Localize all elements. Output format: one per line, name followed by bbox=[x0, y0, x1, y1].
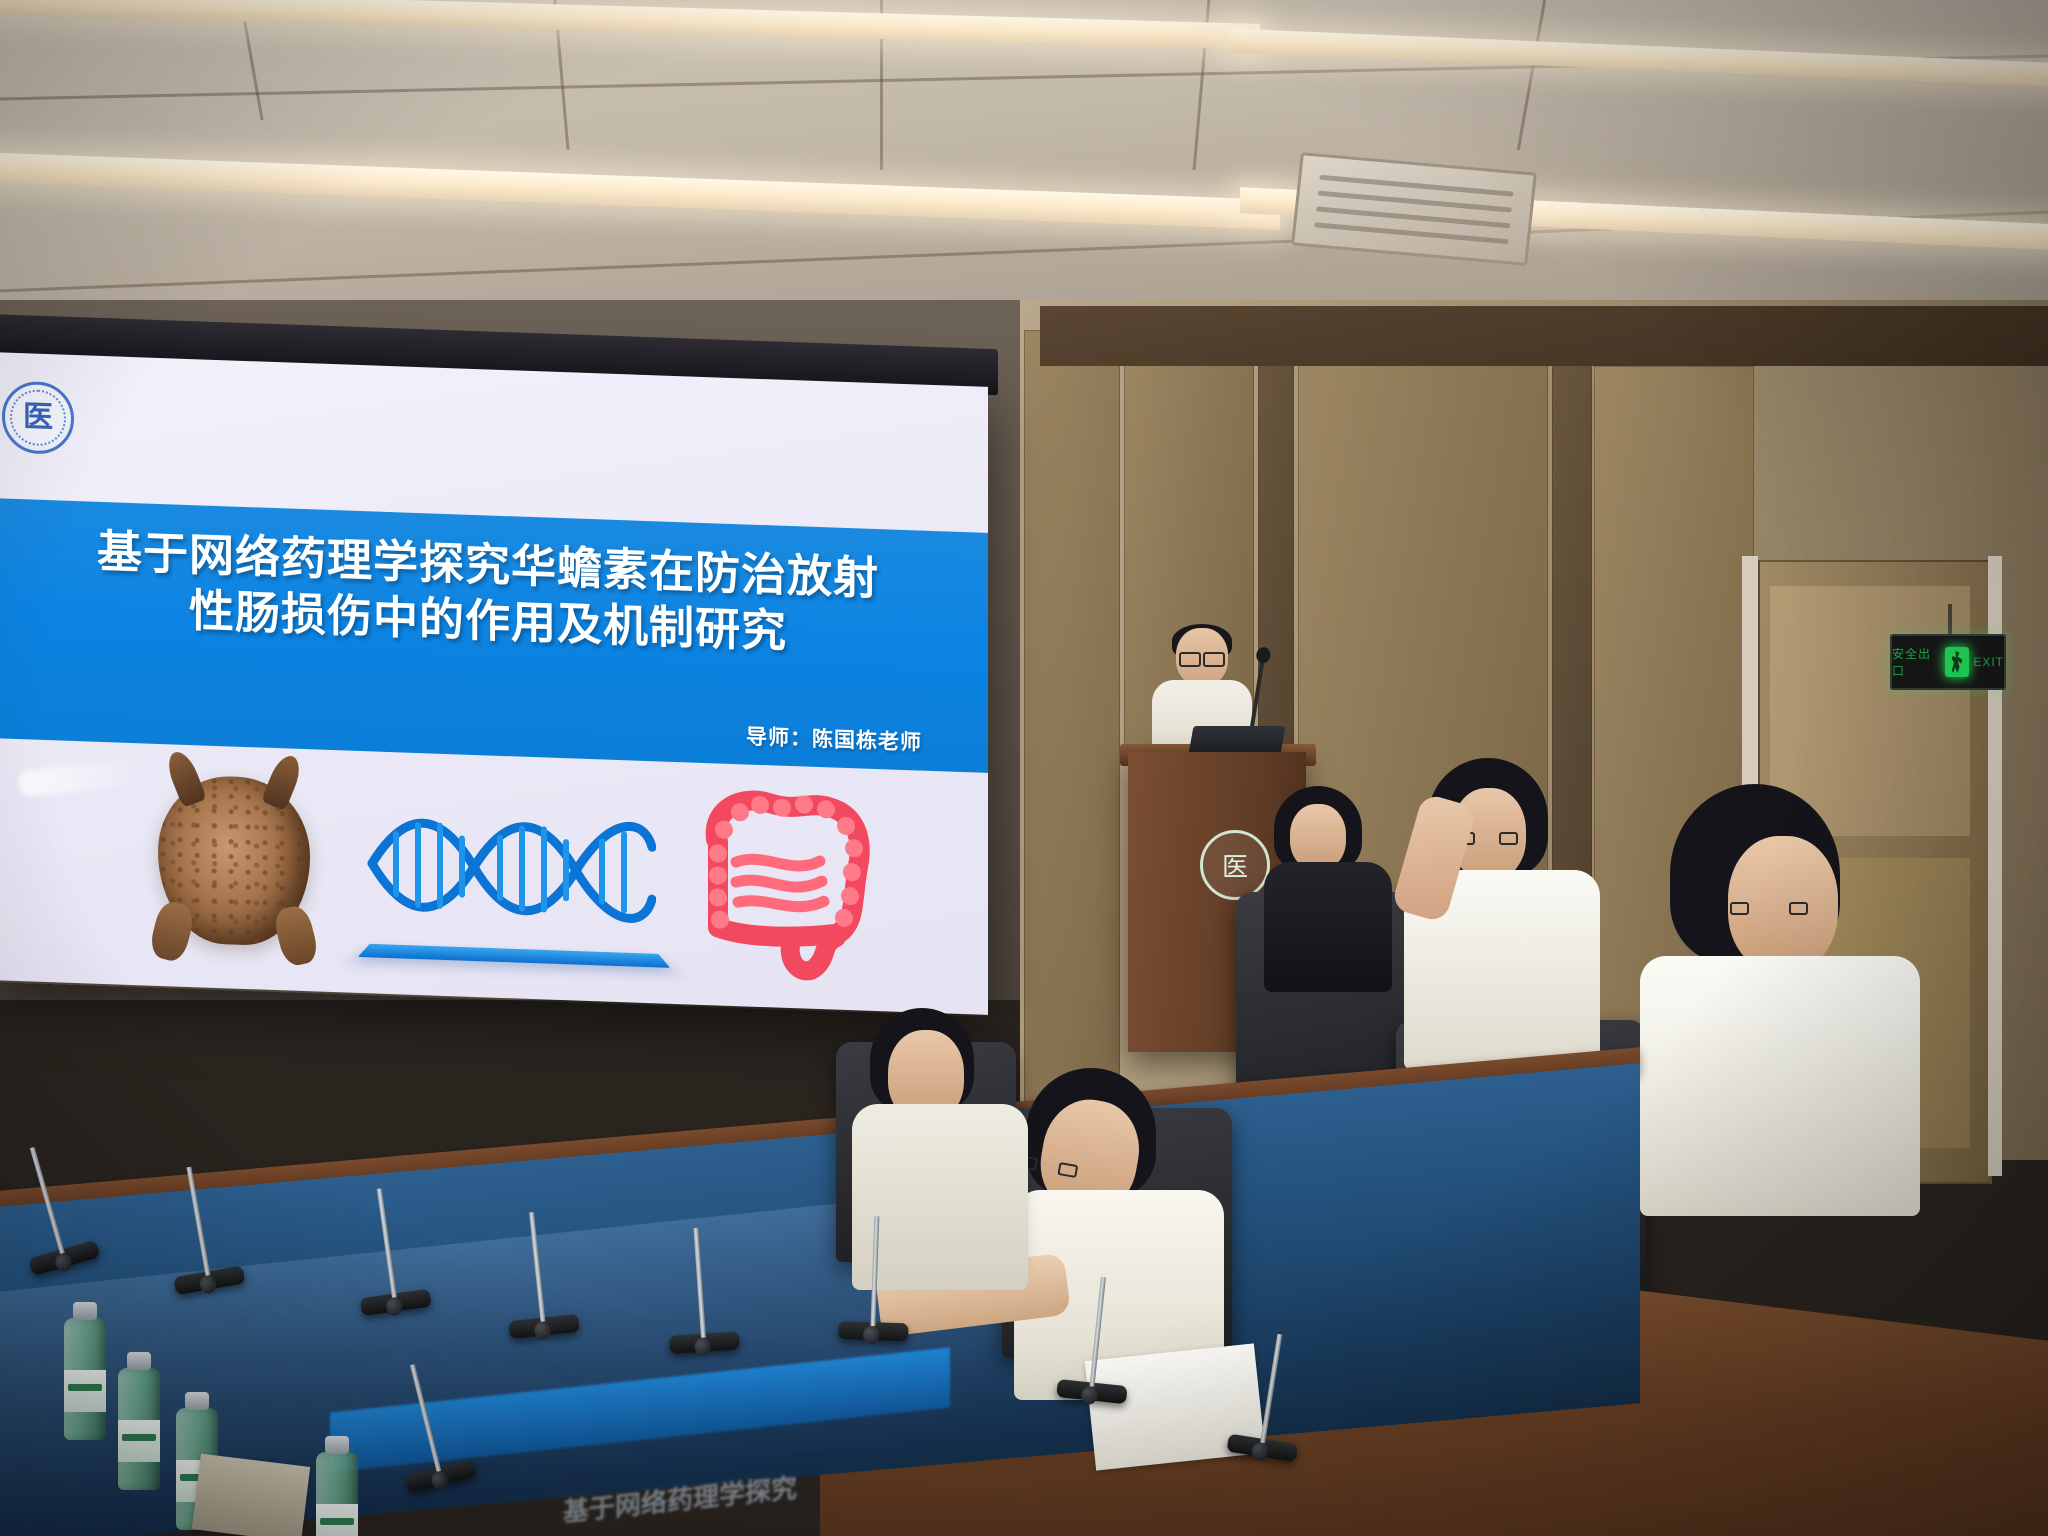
audience-body-left bbox=[852, 1104, 1028, 1290]
dna-platform bbox=[358, 944, 670, 968]
exit-sign: 安全出口 EXIT bbox=[1890, 634, 2006, 690]
dna-helix-icon bbox=[366, 803, 656, 933]
toad-leg-right bbox=[272, 904, 321, 968]
exit-sign-rod bbox=[1948, 604, 1952, 636]
conference-room-scene: 安全出口 EXIT 医 基于网络药理学探究华蟾素在防治放射 性肠损伤中的作用及机… bbox=[0, 0, 2048, 1536]
audience-head bbox=[1290, 804, 1346, 870]
university-logo: 医 bbox=[2, 380, 74, 455]
audience-body bbox=[1264, 862, 1392, 992]
university-logo-glyph: 医 bbox=[23, 402, 53, 433]
running-man-icon bbox=[1945, 647, 1969, 677]
presenter-glasses-icon bbox=[1179, 652, 1225, 663]
water-bottle-1[interactable] bbox=[64, 1318, 106, 1440]
water-bottle-2[interactable] bbox=[118, 1368, 160, 1490]
wall-wood-panel-1 bbox=[1024, 330, 1120, 1160]
intestine-icon bbox=[688, 776, 878, 983]
intestine-figure bbox=[688, 776, 878, 983]
dna-helix-figure bbox=[366, 803, 656, 933]
audience-member-right bbox=[1408, 758, 1598, 1058]
audience-body-far-right bbox=[1640, 956, 1920, 1216]
slide-title: 基于网络药理学探究华蟾素在防治放射 性肠损伤中的作用及机制研究 bbox=[0, 520, 988, 667]
exit-sign-en-label: EXIT bbox=[1973, 655, 2004, 669]
slide-title-band: 基于网络药理学探究华蟾素在防治放射 性肠损伤中的作用及机制研究 导师：陈国栋老师 bbox=[0, 498, 988, 773]
paper-document-left[interactable] bbox=[192, 1454, 310, 1536]
podium-emblem: 医 bbox=[1200, 830, 1270, 900]
podium-emblem-glyph: 医 bbox=[1222, 847, 1248, 884]
water-bottle-4[interactable] bbox=[316, 1452, 358, 1536]
projection-screen: 医 基于网络药理学探究华蟾素在防治放射 性肠损伤中的作用及机制研究 导师：陈国栋… bbox=[0, 352, 988, 1017]
slide-figure-row bbox=[0, 746, 988, 1013]
exit-sign-zh-label: 安全出口 bbox=[1892, 645, 1941, 679]
audience-member-behind-podium bbox=[1270, 786, 1390, 986]
slide-advisor-label: 导师：陈国栋老师 bbox=[746, 720, 922, 756]
wall-dark-recess bbox=[1040, 306, 2048, 366]
audience-member-far-right bbox=[1610, 784, 1910, 1204]
audience-glasses-far-right-icon bbox=[1730, 902, 1808, 911]
presentation-slide: 医 基于网络药理学探究华蟾素在防治放射 性肠损伤中的作用及机制研究 导师：陈国栋… bbox=[0, 352, 988, 1015]
